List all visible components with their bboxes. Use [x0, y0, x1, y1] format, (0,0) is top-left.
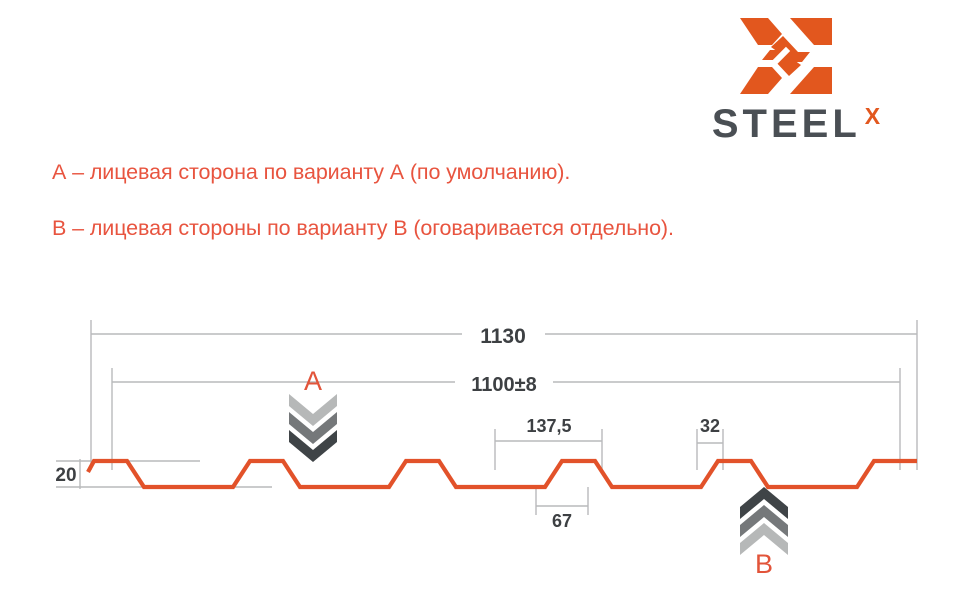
dimension-label-1100: 1100±8 — [471, 374, 537, 396]
marker-a-letter: А — [304, 366, 322, 396]
marker-b-letter: В — [755, 549, 773, 579]
marker-b: В — [740, 487, 788, 579]
dimension-label-137-5: 137,5 — [526, 416, 571, 436]
marker-a-chevrons — [289, 394, 337, 462]
dimension-valley-width: 67 — [536, 487, 588, 531]
dimension-label-32: 32 — [700, 416, 720, 436]
sheet-profile-line — [88, 461, 917, 487]
dimension-label-20: 20 — [55, 465, 76, 486]
profile-technical-drawing: 1130 1100±8 137,5 32 67 20 А — [0, 0, 970, 597]
dimension-useful-width: 1100±8 — [112, 368, 900, 470]
dimension-label-67: 67 — [552, 511, 572, 531]
marker-b-chevrons — [740, 487, 788, 555]
dimension-label-1130: 1130 — [480, 325, 526, 348]
marker-a: А — [289, 366, 337, 462]
